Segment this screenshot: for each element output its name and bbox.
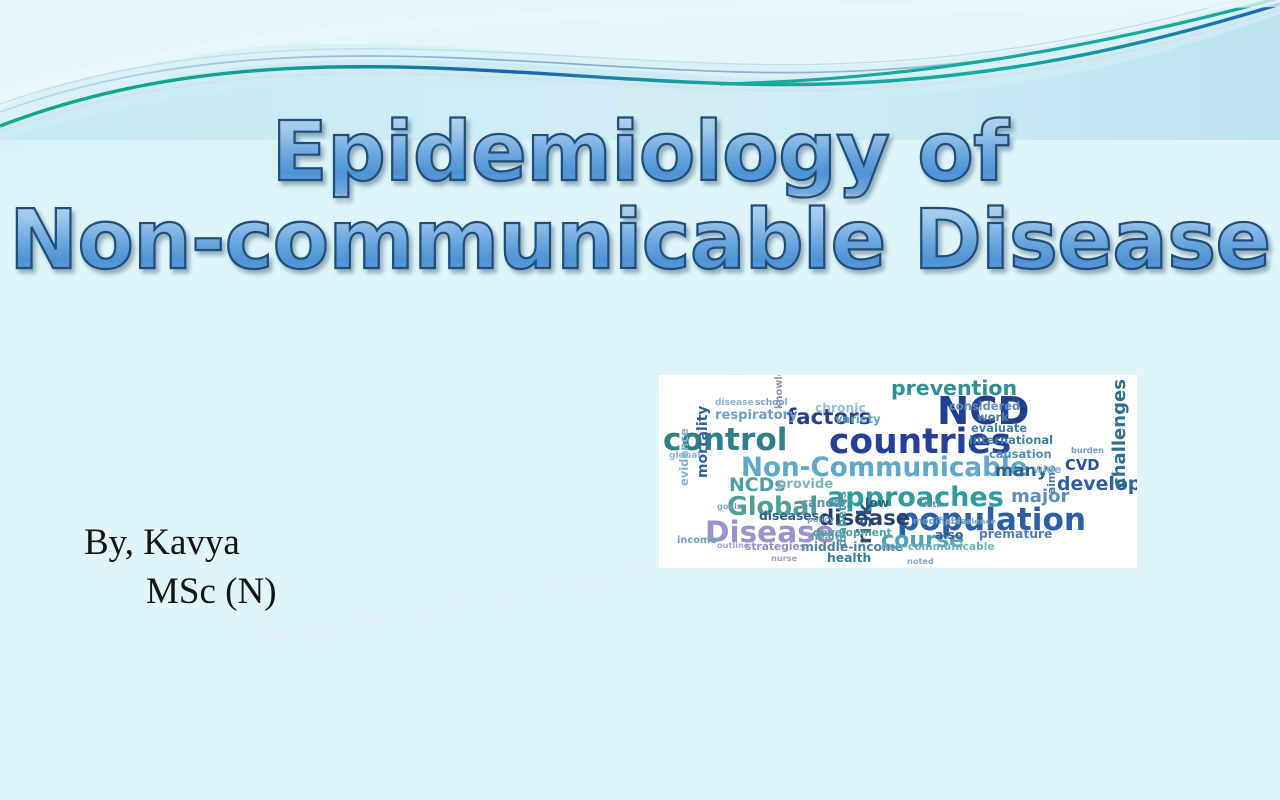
wordcloud-word: health xyxy=(811,533,846,543)
wordcloud-word: noted xyxy=(907,557,934,565)
wordcloud-word: income xyxy=(677,536,717,546)
wordcloud-word: major xyxy=(1011,488,1069,506)
wordcloud-word: non-communicable xyxy=(881,542,995,553)
title-line-2: Non-communicable Disease xyxy=(0,200,1280,282)
wordcloud-word: school xyxy=(755,399,788,408)
wordcloud-word: strategies xyxy=(745,542,806,553)
wordcloud-word: CVD xyxy=(1065,459,1099,474)
wordcloud-word: policy xyxy=(807,515,834,523)
wordcloud-word: considered xyxy=(949,401,1020,412)
wordcloud-word: challenges xyxy=(1111,379,1129,488)
page-title: Epidemiology of Non-communicable Disease xyxy=(0,112,1280,282)
author-block: By, Kavya MSc (N) xyxy=(84,520,277,614)
wordcloud-word: mortality xyxy=(697,406,711,478)
wordcloud-word: data xyxy=(921,500,942,508)
wordcloud-word: health xyxy=(827,552,871,564)
wordcloud-word: nurse xyxy=(771,554,797,562)
wordcloud-word: international xyxy=(969,435,1053,446)
author-degree: MSc (N) xyxy=(146,569,277,614)
wordcloud-word: wide xyxy=(1033,465,1061,476)
wordcloud-image: preventionNCDcountriescontrolfactorsNon-… xyxy=(659,375,1137,568)
wordcloud-word: chronic xyxy=(815,402,866,414)
wordcloud-word: evaluate xyxy=(971,423,1027,434)
wordcloud-word: provide xyxy=(777,478,833,491)
wordcloud-word: causation xyxy=(989,449,1052,460)
wordcloud-canvas: preventionNCDcountriescontrolfactorsNon-… xyxy=(659,375,1137,568)
wordcloud-word: respiratory xyxy=(715,409,798,422)
wordcloud-word: disease xyxy=(715,399,754,408)
author-name: By, Kavya xyxy=(84,520,277,565)
title-line-1: Epidemiology of xyxy=(0,112,1280,194)
wordcloud-word: goals xyxy=(717,502,742,510)
wordcloud-word: prevalence xyxy=(945,517,996,525)
wordcloud-word: low xyxy=(865,497,889,509)
wordcloud-word: outline xyxy=(717,541,749,549)
wordcloud-word: premature xyxy=(979,528,1052,540)
wordcloud-word: work xyxy=(977,412,1009,423)
wordcloud-word: burden xyxy=(1071,446,1104,454)
wordcloud-word: cancer xyxy=(801,497,847,509)
wordcloud-word: global xyxy=(669,452,700,461)
wordcloud-word: variety xyxy=(835,414,881,425)
presentation-slide: Epidemiology of Non-communicable Disease… xyxy=(0,0,1280,800)
